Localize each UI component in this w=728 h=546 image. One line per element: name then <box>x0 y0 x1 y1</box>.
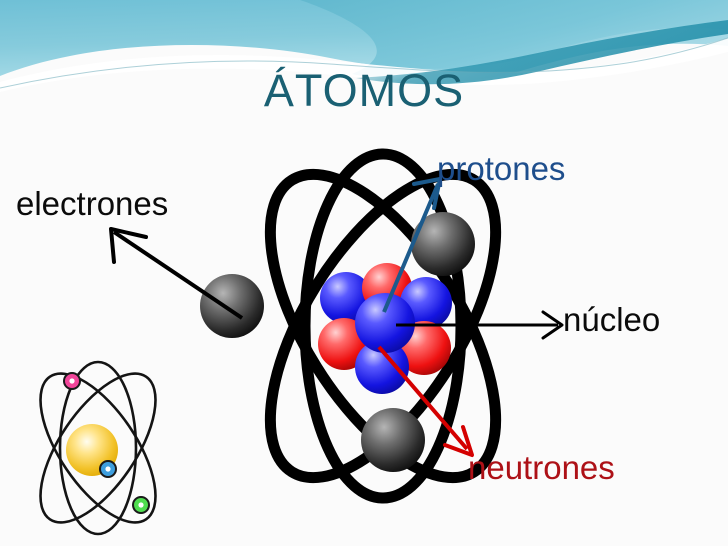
callout-label-nucleo: núcleo <box>563 303 660 336</box>
electron-sphere <box>200 274 264 338</box>
nucleus-cluster <box>318 263 452 394</box>
atom-icon-small <box>8 358 188 543</box>
electron-sphere <box>361 408 425 472</box>
electron-green-core <box>138 502 143 507</box>
callout-label-protones: protones <box>437 152 565 185</box>
electron-blue-core <box>105 466 110 471</box>
callout-label-electrones: electrones <box>16 187 168 220</box>
callout-label-neutrones: neutrones <box>468 451 615 484</box>
electron-sphere <box>411 212 475 276</box>
page-title: ÁTOMOS <box>0 68 728 113</box>
slide-canvas: ÁTOMOS <box>0 0 728 546</box>
electron-pink-core <box>69 378 74 383</box>
nucleus-proton <box>355 293 415 353</box>
